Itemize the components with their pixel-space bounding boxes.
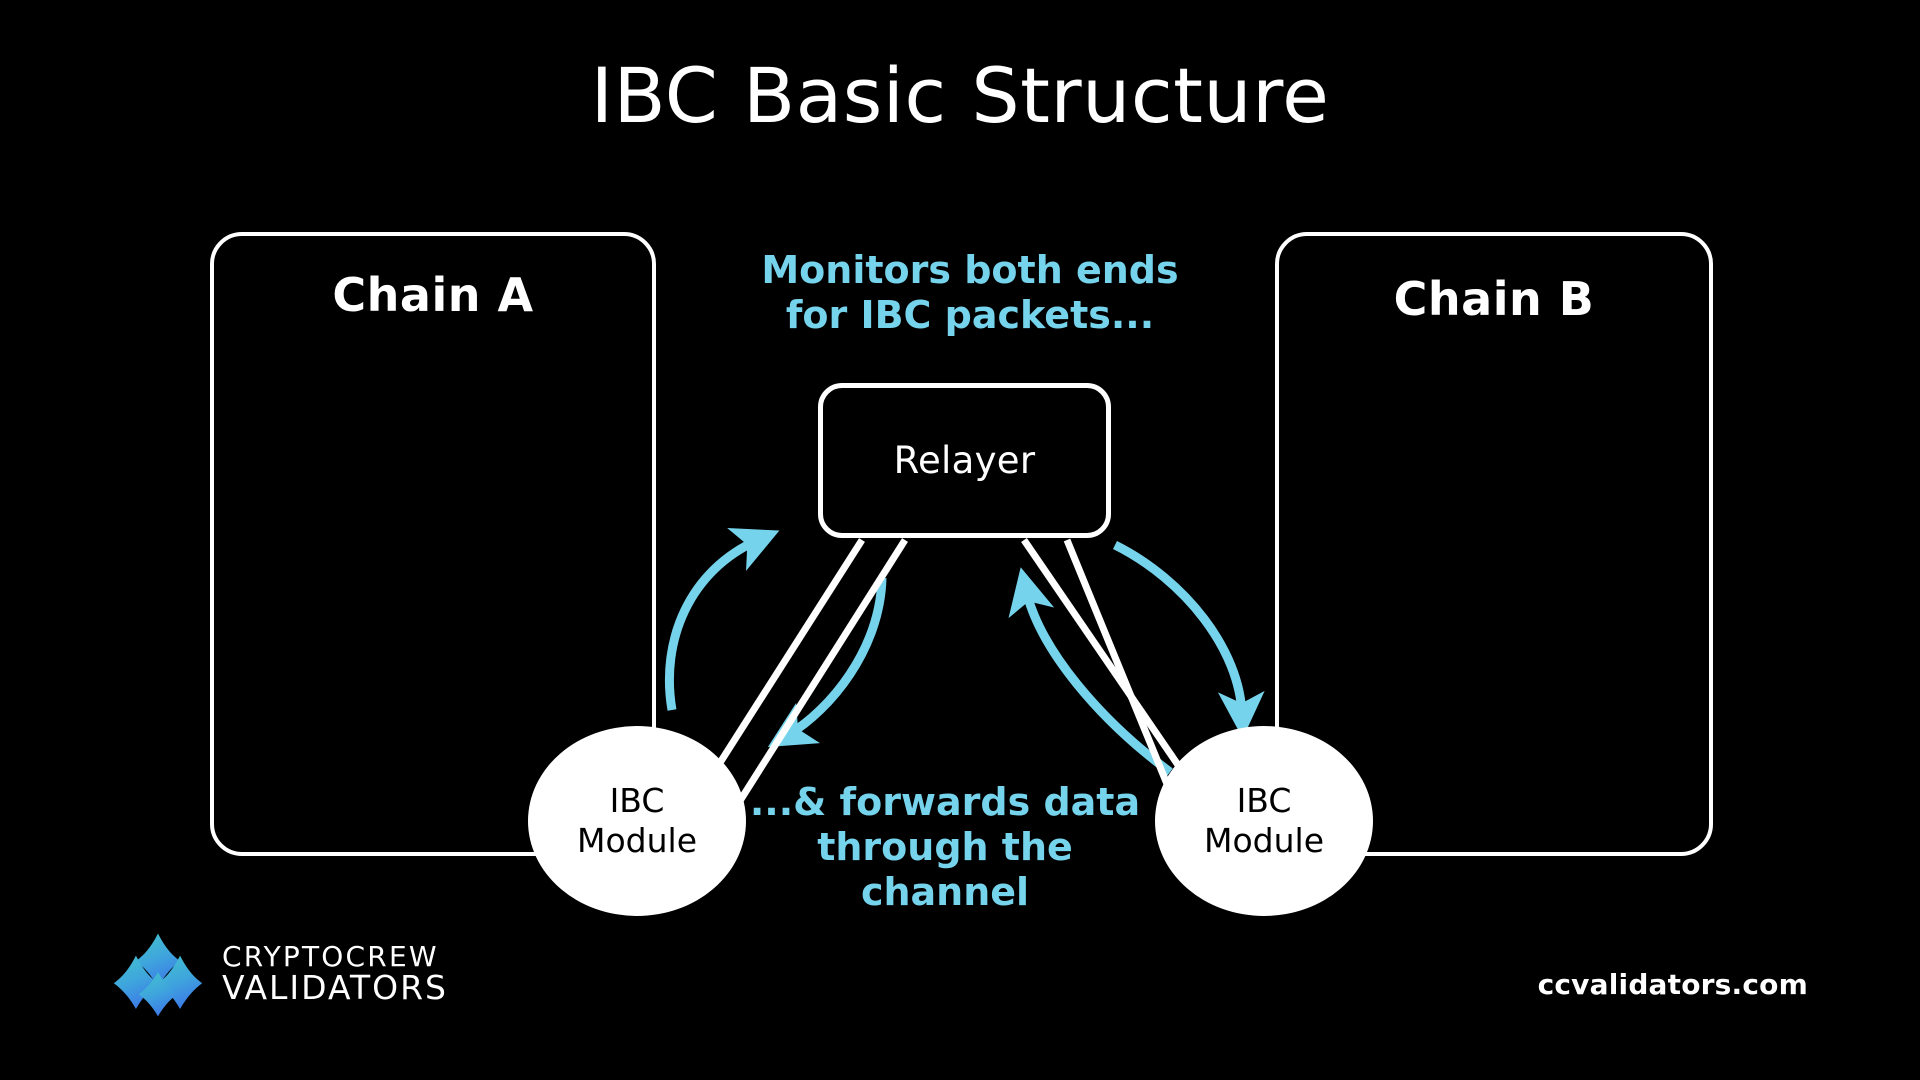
annotation-forwards: ...& forwards data through the channel: [675, 780, 1215, 914]
ibc-module-b-line2: Module: [1204, 821, 1324, 861]
cryptocrew-wordmark: CRYPTOCREW VALIDATORS: [222, 942, 448, 1007]
site-url[interactable]: ccvalidators.com: [1538, 968, 1808, 1001]
cryptocrew-logo[interactable]: CRYPTOCREW VALIDATORS: [112, 928, 448, 1020]
logo-line-cryptocrew: CRYPTOCREW: [222, 942, 448, 972]
annotation-monitors: Monitors both ends for IBC packets...: [700, 248, 1240, 338]
page-title: IBC Basic Structure: [0, 58, 1920, 134]
logo-line-validators: VALIDATORS: [222, 971, 448, 1006]
ibc-module-b-line1: IBC: [1237, 781, 1292, 821]
cryptocrew-diamond-icon: [112, 928, 204, 1020]
chain-a-label: Chain A: [214, 268, 652, 322]
chain-b-label: Chain B: [1279, 272, 1709, 326]
arrow-relayer-to-a: [788, 578, 882, 735]
diagram-canvas: IBC Basic Structure Chain A Chain B: [0, 0, 1920, 1080]
arrow-b-to-relayer: [1026, 590, 1170, 772]
relayer-label: Relayer: [894, 439, 1036, 482]
ibc-module-a-line1: IBC: [610, 781, 665, 821]
relayer-node[interactable]: Relayer: [818, 383, 1111, 538]
arrow-relayer-to-b: [1115, 545, 1242, 715]
arrow-a-to-relayer: [669, 540, 758, 710]
